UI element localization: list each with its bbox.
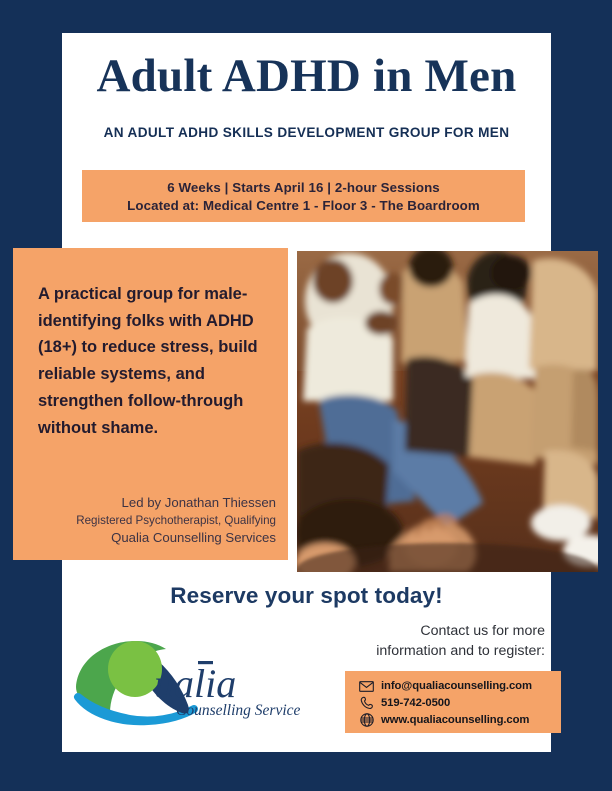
qualia-logo: ualia Counselling Services <box>72 639 300 731</box>
contact-phone-row[interactable]: 519-742-0500 <box>359 695 561 711</box>
envelope-icon <box>359 679 374 694</box>
facilitator-credit: Led by Jonathan Thiessen Registered Psyc… <box>16 494 276 548</box>
contact-email-text: info@qualiacounselling.com <box>381 680 532 692</box>
svg-text:Counselling Services: Counselling Services <box>176 702 300 719</box>
session-details-banner: 6 Weeks | Starts April 16 | 2-hour Sessi… <box>82 170 525 222</box>
call-to-action-heading: Reserve your spot today! <box>62 583 551 609</box>
contact-phone-text: 519-742-0500 <box>381 697 450 709</box>
contact-lead-text: Contact us for more information and to r… <box>355 621 545 661</box>
session-schedule-line: 6 Weeks | Starts April 16 | 2-hour Sessi… <box>167 180 440 195</box>
globe-icon <box>359 713 374 728</box>
facilitator-name: Led by Jonathan Thiessen <box>16 494 276 513</box>
svg-text:ualia: ualia <box>154 661 236 706</box>
contact-email-row[interactable]: info@qualiacounselling.com <box>359 678 561 694</box>
contact-website-text: www.qualiacounselling.com <box>381 714 529 726</box>
group-therapy-photo <box>297 251 598 572</box>
facilitator-designation: Registered Psychotherapist, Qualifying <box>16 513 276 529</box>
facilitator-organization: Qualia Counselling Services <box>16 529 276 548</box>
phone-icon <box>359 696 374 711</box>
page-title: Adult ADHD in Men <box>62 50 551 103</box>
contact-website-row[interactable]: www.qualiacounselling.com <box>359 712 561 728</box>
session-location-line: Located at: Medical Centre 1 - Floor 3 -… <box>127 198 480 213</box>
program-description-text: A practical group for male-identifying f… <box>38 281 266 441</box>
poster-root: Adult ADHD in Men AN ADULT ADHD SKILLS D… <box>0 0 612 791</box>
poster-subtitle: AN ADULT ADHD SKILLS DEVELOPMENT GROUP F… <box>62 125 551 140</box>
program-description-block: A practical group for male-identifying f… <box>13 248 288 560</box>
contact-details-box: info@qualiacounselling.com 519-742-0500 … <box>345 671 561 733</box>
